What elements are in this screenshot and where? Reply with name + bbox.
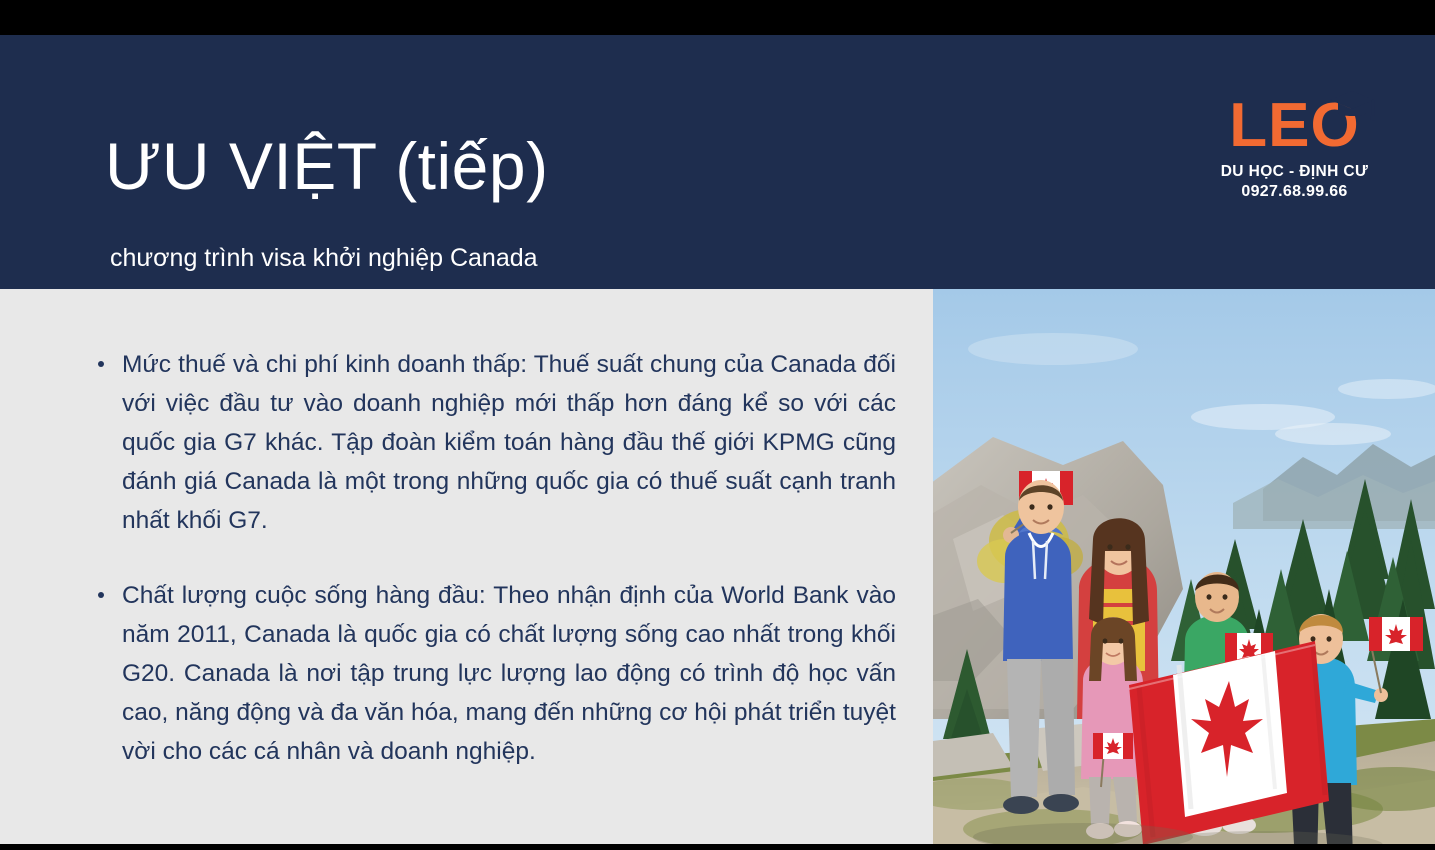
slide-header-band: ƯU VIỆT (tiếp) chương trình visa khởi ng… <box>0 35 1435 289</box>
bullet-dot-icon <box>98 361 104 367</box>
slide-photo <box>933 289 1435 850</box>
logo-tagline: DU HỌC - ĐỊNH CƯ <box>1212 163 1377 181</box>
slide-title: ƯU VIỆT (tiếp) <box>105 133 549 199</box>
bullet-text: Chất lượng cuộc sống hàng đầu: Theo nhận… <box>122 582 896 765</box>
logo-mark: LEO <box>1212 93 1377 159</box>
bullet-list: Mức thuế và chi phí kinh doanh thấp: Thu… <box>96 345 896 771</box>
logo-phone-number: 0927.68.99.66 <box>1212 183 1377 201</box>
bullet-dot-icon <box>98 592 104 598</box>
top-letterbox-bar <box>0 0 1435 35</box>
slide-subtitle: chương trình visa khởi nghiệp Canada <box>110 243 538 273</box>
bottom-letterbox-bar <box>0 844 1435 850</box>
list-item: Chất lượng cuộc sống hàng đầu: Theo nhận… <box>96 576 896 771</box>
slide-body: Mức thuế và chi phí kinh doanh thấp: Thu… <box>0 289 933 844</box>
list-item: Mức thuế và chi phí kinh doanh thấp: Thu… <box>96 345 896 540</box>
bullet-text: Mức thuế và chi phí kinh doanh thấp: Thu… <box>122 351 896 534</box>
family-with-canadian-flags-photo <box>933 289 1435 850</box>
brand-logo: LEO DU HỌC - ĐỊNH CƯ 0927.68.99.66 <box>1212 93 1377 201</box>
logo-wordmark: LEO <box>1212 93 1377 159</box>
presentation-slide: ƯU VIỆT (tiếp) chương trình visa khởi ng… <box>0 0 1435 850</box>
